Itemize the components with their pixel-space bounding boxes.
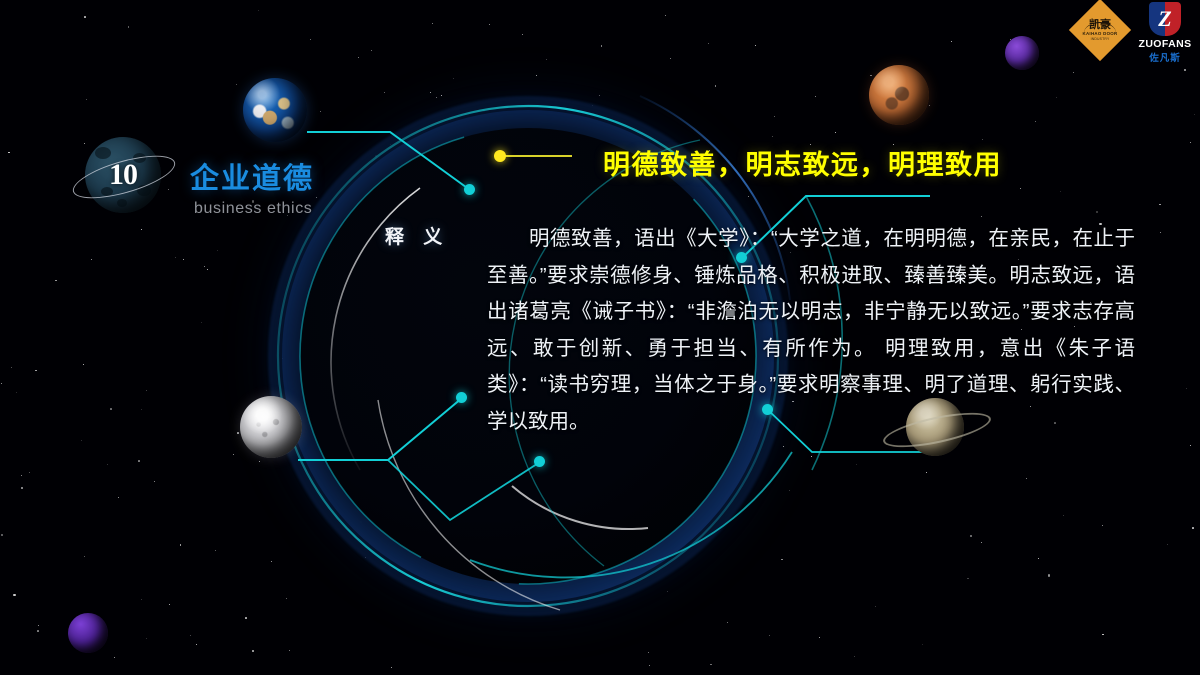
connector-moon — [298, 398, 462, 460]
connector-dot-earth — [464, 184, 475, 195]
zuofans-logo-cn: 佐凡斯 — [1149, 50, 1181, 64]
zuofans-logo-en: ZUOFANS — [1139, 38, 1192, 50]
connector-earth — [307, 132, 470, 190]
connector-dot-moon — [456, 392, 467, 403]
zuofans-logo: Z ZUOFANS 佐凡斯 — [1136, 2, 1194, 64]
slide-canvas: 10 企业道德 business ethics 释 义 明德致善，明志致远，明理… — [0, 0, 1200, 675]
orbit-arc-white-bottom — [512, 486, 648, 529]
topic-title-cn: 企业道德 — [190, 155, 314, 197]
section-label: 释 义 — [385, 222, 449, 249]
earth-planet-icon — [243, 78, 307, 142]
connector-dot-yellow — [494, 150, 506, 162]
connector-dot-lower-branch — [534, 456, 545, 467]
violet-planet-top-right-icon — [1005, 36, 1039, 70]
zuofans-z-mark: Z — [1149, 2, 1181, 36]
moon-planet-icon — [240, 396, 302, 458]
kaihao-logo-cn: 凯豪 — [1089, 19, 1111, 31]
zuofans-shield-icon: Z — [1149, 2, 1181, 36]
violet-planet-bottom-left-icon — [68, 613, 108, 653]
mars-planet-icon — [869, 65, 929, 125]
headline: 明德致善，明志致远，明理致用 — [603, 143, 1002, 182]
kaihao-logo: 凯豪 KAIHAO DOOR INDUSTRY — [1072, 2, 1128, 58]
topic-title-en: business ethics — [194, 200, 312, 218]
logo-group: 凯豪 KAIHAO DOOR INDUSTRY Z ZUOFANS 佐凡斯 — [1072, 2, 1194, 64]
body-paragraph: 明德致善，语出《大学》：“大学之道，在明明德，在亲民，在止于至善。”要求崇德修身… — [487, 221, 1135, 441]
kaihao-logo-sub: INDUSTRY — [1091, 37, 1110, 42]
number-planet-icon: 10 — [85, 137, 161, 213]
